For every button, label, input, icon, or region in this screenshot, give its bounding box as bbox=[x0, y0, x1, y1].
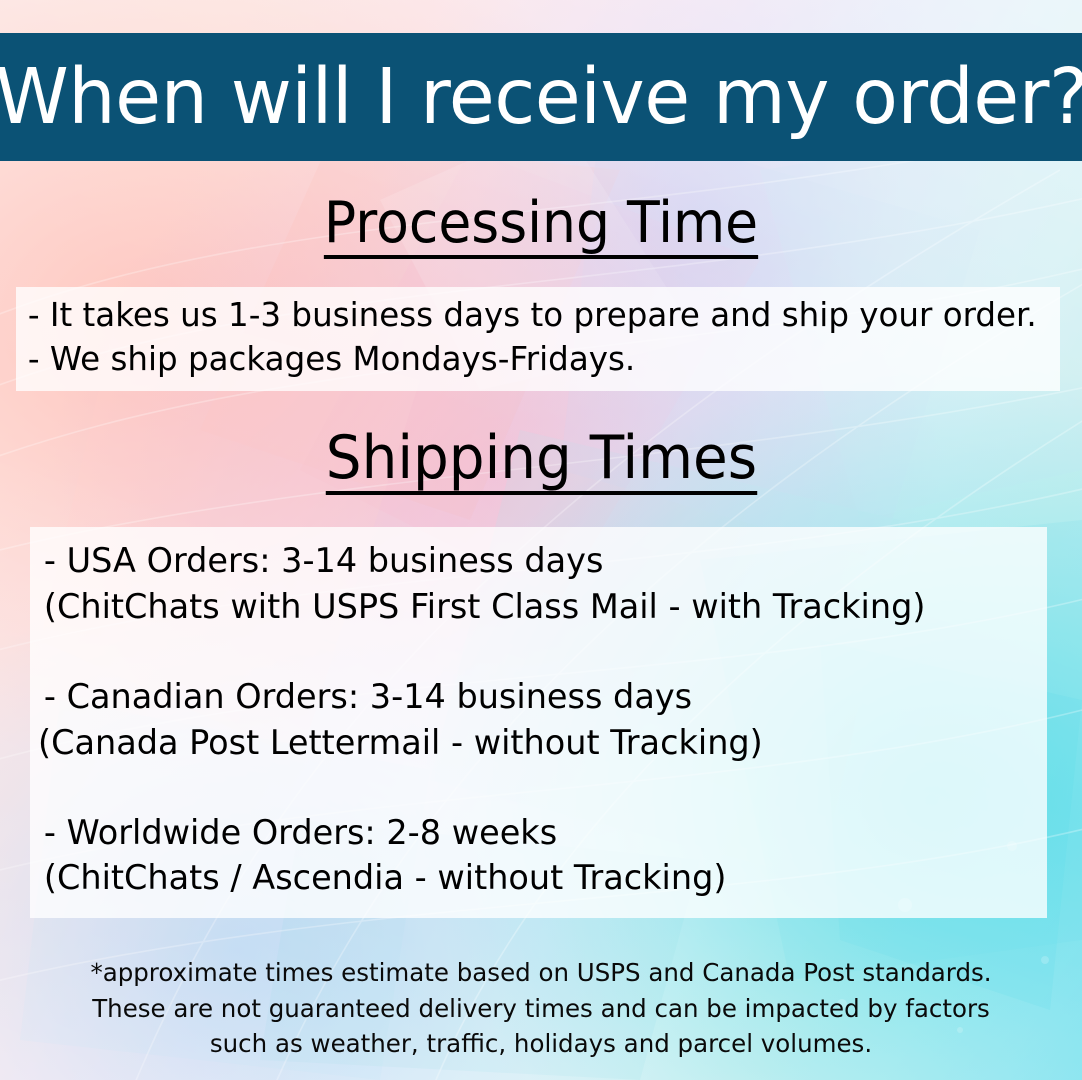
header-banner: When will I receive my order? bbox=[0, 33, 1082, 161]
footnote: *approximate times estimate based on USP… bbox=[0, 955, 1082, 1062]
shipping-canada-duration: - Canadian Orders: 3-14 business days bbox=[38, 675, 1032, 721]
section-heading-processing-time: Processing Time bbox=[0, 195, 1082, 259]
shipping-info-poster: When will I receive my order? Processing… bbox=[0, 0, 1082, 1080]
section-heading-processing-time-label: Processing Time bbox=[324, 195, 758, 259]
shipping-usa-duration: - USA Orders: 3-14 business days bbox=[38, 539, 1032, 585]
shipping-canada-carrier: (Canada Post Lettermail - without Tracki… bbox=[38, 721, 1032, 767]
section-heading-shipping-times: Shipping Times bbox=[0, 428, 1082, 495]
footnote-line-3: such as weather, traffic, holidays and p… bbox=[11, 1026, 1071, 1062]
processing-time-line-2: - We ship packages Mondays-Fridays. bbox=[16, 337, 1044, 381]
content-area: Processing Time - It takes us 1-3 busine… bbox=[0, 161, 1082, 1080]
shipping-times-panel: - USA Orders: 3-14 business days (ChitCh… bbox=[30, 527, 1047, 918]
page-title: When will I receive my order? bbox=[0, 59, 1082, 136]
footnote-line-2: These are not guaranteed delivery times … bbox=[11, 991, 1071, 1027]
shipping-block-worldwide: - Worldwide Orders: 2-8 weeks (ChitChats… bbox=[30, 811, 1047, 903]
shipping-usa-carrier: (ChitChats with USPS First Class Mail - … bbox=[38, 585, 1032, 631]
footnote-line-1: *approximate times estimate based on USP… bbox=[11, 955, 1071, 991]
shipping-worldwide-duration: - Worldwide Orders: 2-8 weeks bbox=[38, 811, 1032, 857]
processing-time-panel: - It takes us 1-3 business days to prepa… bbox=[16, 287, 1060, 391]
shipping-worldwide-carrier: (ChitChats / Ascendia - without Tracking… bbox=[38, 856, 1032, 902]
section-heading-shipping-times-label: Shipping Times bbox=[325, 428, 756, 495]
shipping-block-usa: - USA Orders: 3-14 business days (ChitCh… bbox=[30, 539, 1047, 631]
shipping-block-canada: - Canadian Orders: 3-14 business days (C… bbox=[30, 675, 1047, 767]
processing-time-line-1: - It takes us 1-3 business days to prepa… bbox=[16, 293, 1044, 337]
